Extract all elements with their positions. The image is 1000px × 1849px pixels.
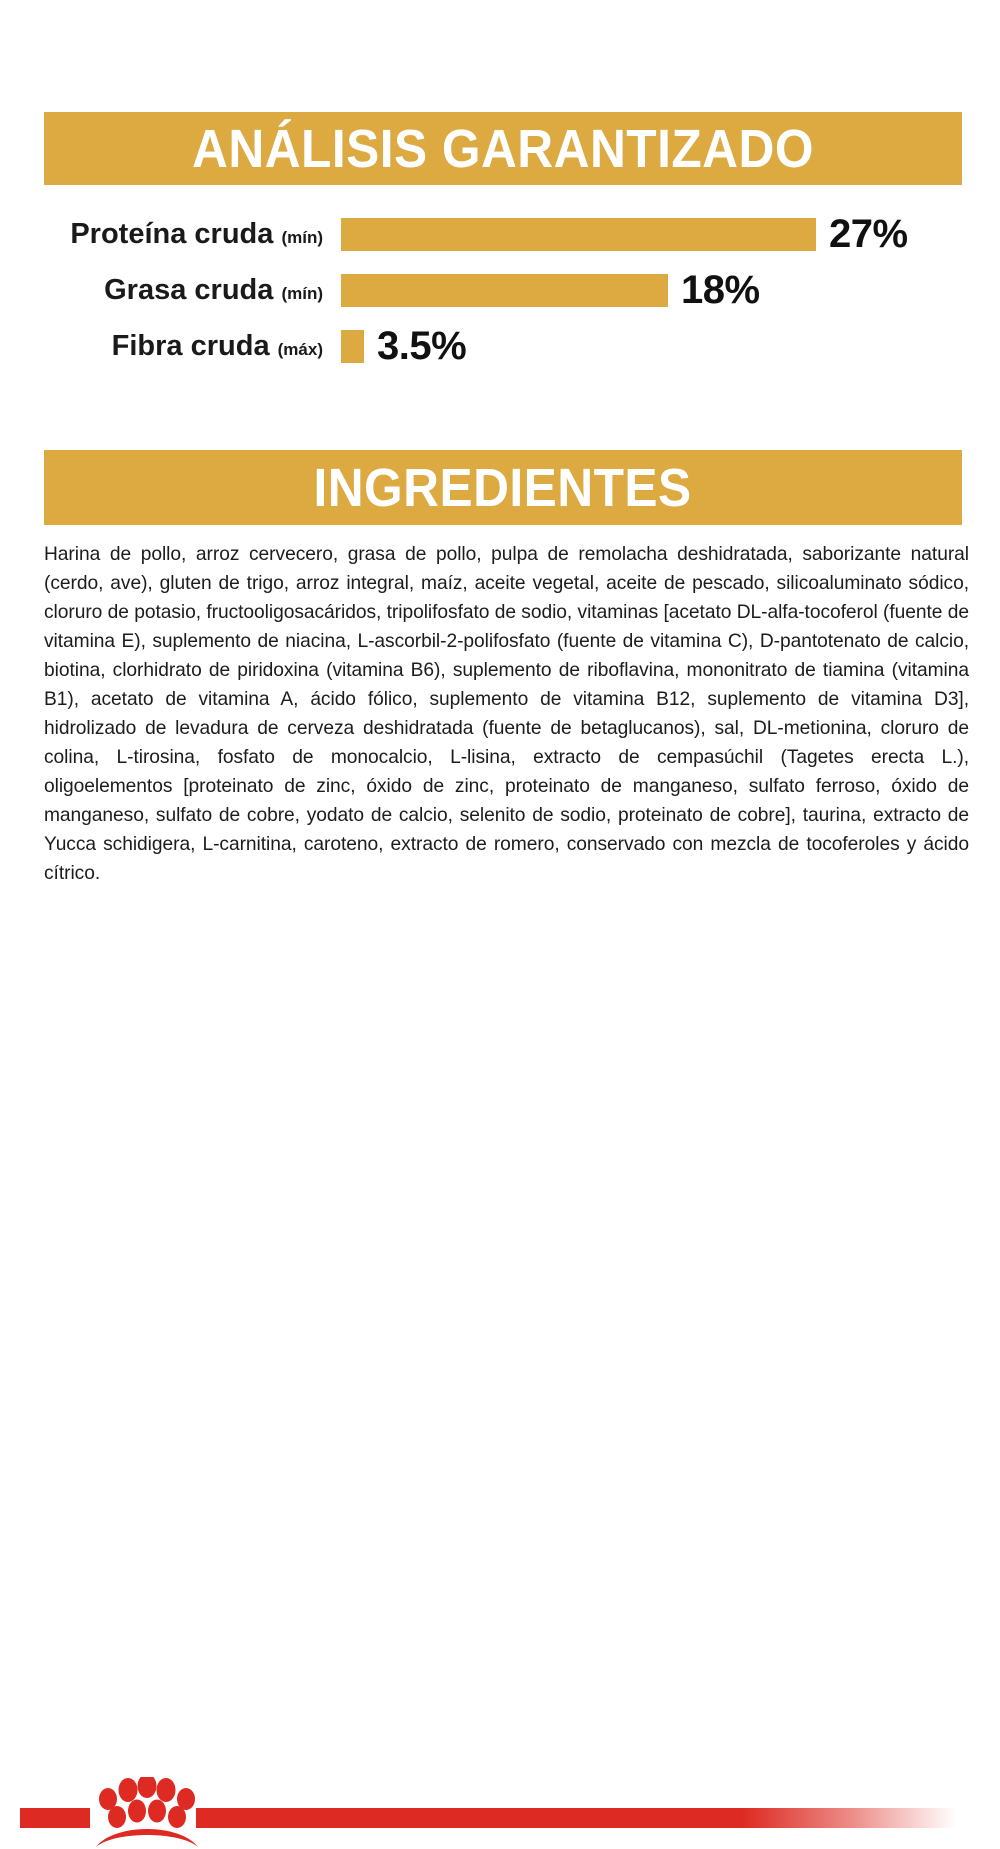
analysis-section-header: ANÁLISIS GARANTIZADO <box>44 112 962 185</box>
analysis-section-title: ANÁLISIS GARANTIZADO <box>192 122 814 176</box>
footer-brand-strip <box>0 880 1000 1000</box>
footer-rule-left <box>20 1808 90 1828</box>
chart-row-fiber: Fibra cruda (máx) 3.5% <box>44 323 974 369</box>
guaranteed-analysis-chart: Proteína cruda (mín) 27% Grasa cruda (mí… <box>44 205 974 395</box>
chart-label-fat: Grasa cruda (mín) <box>44 276 341 305</box>
chart-label-protein-qualifier: (mín) <box>281 228 323 247</box>
chart-bar-fiber <box>341 330 364 363</box>
ingredients-section-header: INGREDIENTES <box>44 450 962 525</box>
chart-label-fiber-text: Fibra cruda <box>112 330 270 362</box>
chart-row-protein: Proteína cruda (mín) 27% <box>44 211 974 257</box>
chart-bar-protein <box>341 218 816 251</box>
chart-label-fat-qualifier: (mín) <box>281 284 323 303</box>
chart-value-fat: 18% <box>681 270 760 310</box>
chart-label-protein: Proteína cruda (mín) <box>44 220 341 249</box>
chart-label-protein-text: Proteína cruda <box>70 218 273 250</box>
chart-value-protein: 27% <box>829 214 908 254</box>
chart-label-fiber: Fibra cruda (máx) <box>44 332 341 361</box>
chart-label-fiber-qualifier: (máx) <box>278 340 323 359</box>
chart-value-fiber: 3.5% <box>377 326 466 366</box>
ingredients-text: Harina de pollo, arroz cervecero, grasa … <box>44 540 969 888</box>
footer-rule-right <box>196 1808 956 1828</box>
nutrition-label-page: ANÁLISIS GARANTIZADO Proteína cruda (mín… <box>0 0 1000 1000</box>
chart-row-fat: Grasa cruda (mín) 18% <box>44 267 974 313</box>
chart-label-fat-text: Grasa cruda <box>104 274 273 306</box>
royal-canin-crown-icon <box>88 1777 206 1849</box>
ingredients-section-title: INGREDIENTES <box>314 461 692 515</box>
chart-bar-fat <box>341 274 668 307</box>
